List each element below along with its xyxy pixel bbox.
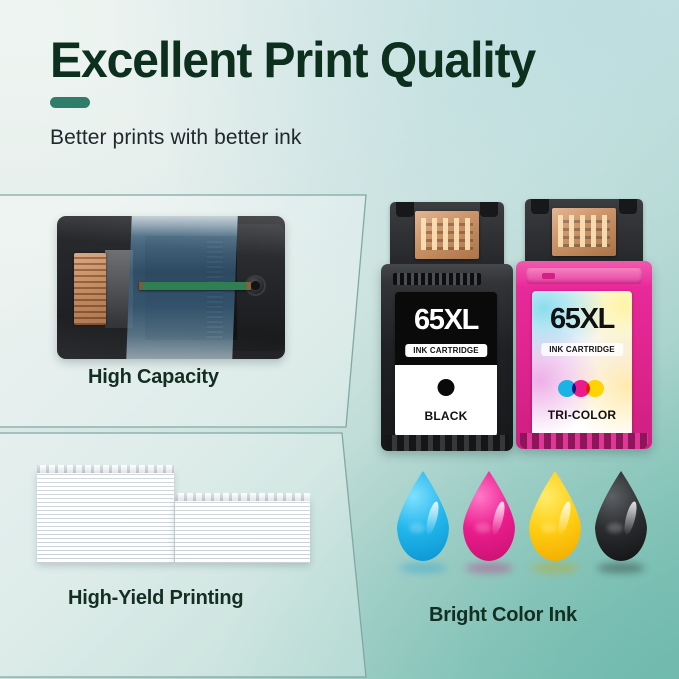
ink-drop-magenta-icon [463,471,515,561]
drop-highlight-secondary [475,523,491,533]
cartridge-base [520,433,648,449]
drop-shape [397,471,449,561]
cartridge-label-lower: TRI-COLOR [532,364,632,436]
cartridge-tab-left [396,202,414,217]
page-subtitle: Better prints with better ink [50,124,302,152]
accent-dash [50,97,90,108]
paper-sheets [175,498,310,563]
drop-shadow-yellow [531,563,579,573]
ink-drop-cyan-icon [397,471,449,561]
cartridge-label-black: 65XL INK CARTRIDGE BLACK [395,292,497,437]
drop-highlight-secondary [607,523,623,533]
cartridge-tab-left [531,199,549,214]
cartridge-black: 65XL INK CARTRIDGE BLACK [381,202,513,451]
cartridge-tri-color: 65XL INK CARTRIDGE TRI-COLOR [516,199,652,449]
page-title: Excellent Print Quality [50,31,535,89]
header: Excellent Print Quality Better prints wi… [0,0,679,180]
paper-stack-top [37,465,174,473]
tri-color-dots-icon [558,380,606,397]
cartridge-sub-label: INK CARTRIDGE [405,344,487,357]
drop-highlight-secondary [541,523,557,533]
paper-stack-tall [37,470,174,563]
cartridge-tab-right [619,199,637,214]
drop-highlight-secondary [409,523,425,533]
drop-shadow-cyan [399,563,447,573]
cartridge-model-number: 65XL [395,304,497,337]
cartridge-type-label: TRI-COLOR [532,408,632,422]
paper-stack-top [175,493,310,501]
ink-drops-group [397,471,651,567]
cartridge-base [385,435,509,451]
yellow-dot-icon [586,380,604,397]
cartridge-tab-right [480,202,498,217]
paper-stack-short [175,498,310,563]
ink-drop-black-icon [595,471,647,561]
cartridge-vents [393,273,481,285]
cartridge-contact-chip [552,208,616,256]
cartridge-body: 65XL INK CARTRIDGE TRI-COLOR [516,261,652,449]
feature-label-high-yield: High-Yield Printing [68,587,243,610]
chip-contact-pads [558,215,610,247]
cartridge-type-label: BLACK [395,409,497,423]
cartridge-model-number: 65XL [532,303,632,336]
cartridge-sub-label: INK CARTRIDGE [541,343,623,356]
paper-sheets [37,470,174,563]
feature-label-bright-color: Bright Color Ink [429,604,577,627]
cartridge-label-tri-color: 65XL INK CARTRIDGE TRI-COLOR [532,291,632,436]
ink-drop-yellow-icon [529,471,581,561]
cartridge-gloss [57,216,285,359]
drop-shape [595,471,647,561]
cartridge-contact-chip [415,211,479,259]
product-feature-banner: Excellent Print Quality Better prints wi… [0,0,679,679]
chip-contact-pads [421,218,473,250]
drop-shadow-black [597,563,645,573]
cartridge-clip [526,268,642,284]
open-cartridge-image [57,216,285,359]
cartridge-body: 65XL INK CARTRIDGE BLACK [381,264,513,451]
black-ink-dot-icon [438,379,455,396]
cartridge-label-lower: BLACK [395,365,497,437]
feature-label-high-capacity: High Capacity [88,366,219,389]
drop-shadow-magenta [465,563,513,573]
drop-shape [463,471,515,561]
drop-shape [529,471,581,561]
